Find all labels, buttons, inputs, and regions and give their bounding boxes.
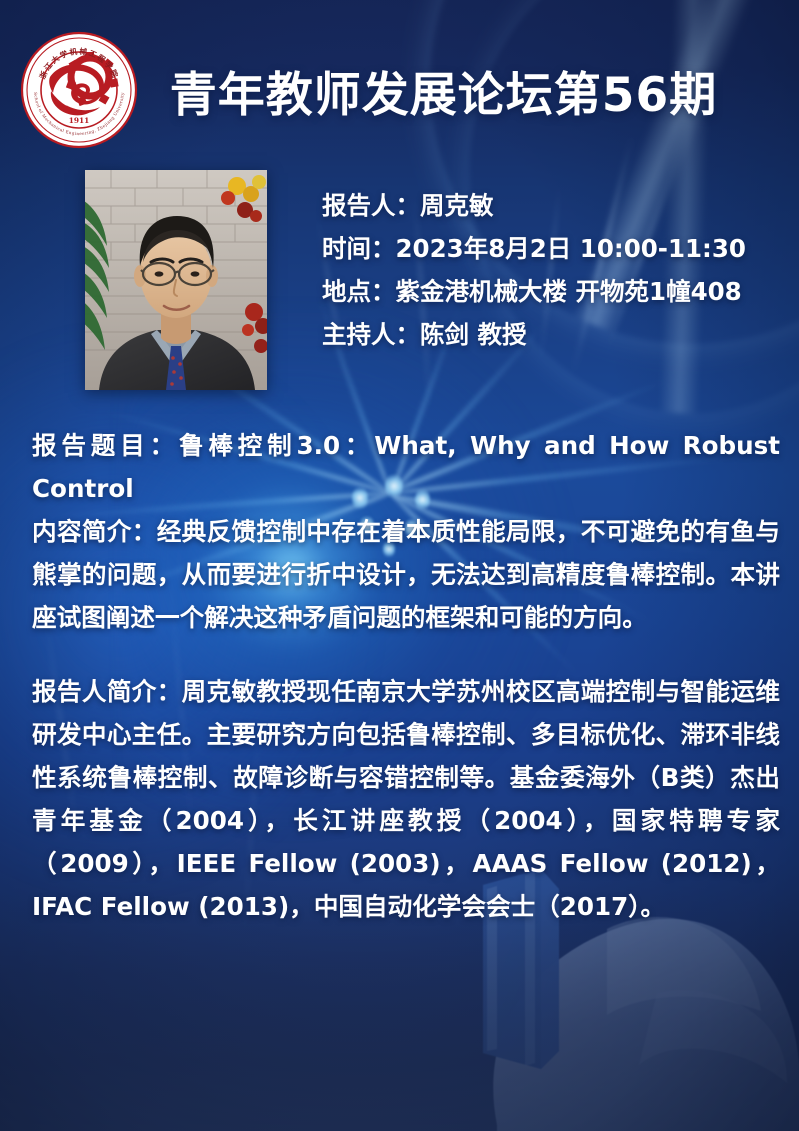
abstract-paragraph: 内容简介：经典反馈控制中存在着本质性能局限，不可避免的有鱼与熊掌的问题，从而要进… — [32, 510, 780, 639]
speaker-row: 报告人：周克敏 时间：2023年8月2日 10:00-11:30 地点：紫金港机… — [0, 170, 799, 408]
meta-speaker: 报告人：周克敏 — [322, 184, 792, 227]
zju-mechanical-engineering-logo-icon: 浙江大学机械工程学院 School of Mechanical Engineer… — [20, 31, 138, 149]
poster-header: 浙江大学机械工程学院 School of Mechanical Engineer… — [0, 26, 799, 154]
meta-location: 地点：紫金港机械大楼 开物苑1幢408 — [322, 270, 792, 313]
poster-body: 报告题目：鲁棒控制3.0：What, Why and How Robust Co… — [32, 424, 780, 928]
talk-meta-block: 报告人：周克敏 时间：2023年8月2日 10:00-11:30 地点：紫金港机… — [322, 184, 792, 356]
poster-canvas: 浙江大学机械工程学院 School of Mechanical Engineer… — [0, 0, 799, 1131]
speaker-portrait-photo — [85, 170, 267, 390]
page-title: 青年教师发展论坛第56期 — [138, 56, 749, 125]
meta-host: 主持人：陈剑 教授 — [322, 313, 792, 356]
svg-text:1911: 1911 — [69, 116, 90, 125]
poster-content: 浙江大学机械工程学院 School of Mechanical Engineer… — [0, 0, 799, 1131]
speaker-bio-paragraph: 报告人简介：周克敏教授现任南京大学苏州校区高端控制与智能运维研发中心主任。主要研… — [32, 670, 780, 928]
talk-title-paragraph: 报告题目：鲁棒控制3.0：What, Why and How Robust Co… — [32, 424, 780, 510]
meta-time: 时间：2023年8月2日 10:00-11:30 — [322, 227, 792, 270]
